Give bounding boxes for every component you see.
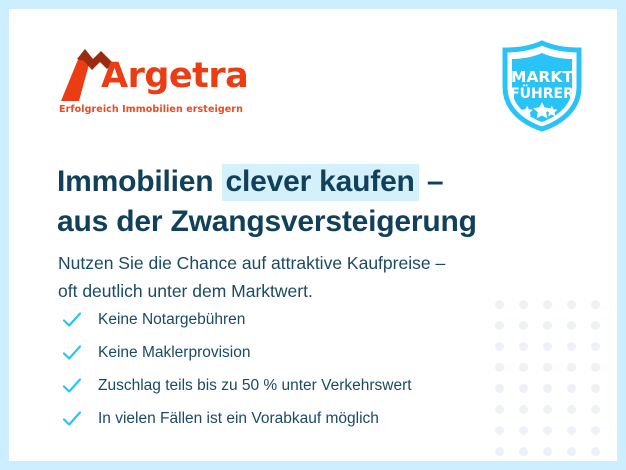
dot bbox=[543, 384, 552, 393]
dot bbox=[567, 321, 576, 330]
benefit-list: Keine Notargebühren Keine Maklerprovisio… bbox=[62, 306, 532, 438]
headline-line2: aus der Zwangsversteigerung bbox=[57, 203, 537, 241]
dot bbox=[567, 363, 576, 372]
list-item-label: In vielen Fällen ist ein Vorabkauf mögli… bbox=[98, 409, 379, 429]
list-item-label: Zuschlag teils bis zu 50 % unter Verkehr… bbox=[98, 376, 412, 396]
headline-suffix: – bbox=[419, 165, 444, 198]
dot bbox=[567, 405, 576, 414]
list-item: Zuschlag teils bis zu 50 % unter Verkehr… bbox=[62, 372, 532, 400]
dot bbox=[591, 300, 600, 309]
dot bbox=[543, 342, 552, 351]
list-item-label: Keine Notargebühren bbox=[98, 310, 245, 330]
dot bbox=[591, 405, 600, 414]
headline-prefix: Immobilien bbox=[57, 165, 222, 198]
subheadline-line1: Nutzen Sie die Chance auf attraktive Kau… bbox=[58, 253, 445, 273]
dot bbox=[591, 447, 600, 456]
dot bbox=[543, 405, 552, 414]
argetra-logo[interactable]: Argetra Erfolgreich Immobilien ersteiger… bbox=[57, 49, 257, 101]
dot bbox=[543, 321, 552, 330]
shield-badge-icon: MARKT FÜHRER bbox=[496, 40, 588, 132]
dot bbox=[567, 426, 576, 435]
subheadline: Nutzen Sie die Chance auf attraktive Kau… bbox=[58, 249, 558, 305]
check-icon bbox=[62, 343, 82, 363]
dot bbox=[543, 426, 552, 435]
dot bbox=[567, 384, 576, 393]
list-item: In vielen Fällen ist ein Vorabkauf mögli… bbox=[62, 405, 532, 433]
dot bbox=[591, 342, 600, 351]
dot bbox=[591, 384, 600, 393]
dot bbox=[591, 321, 600, 330]
dot bbox=[567, 300, 576, 309]
dot bbox=[519, 447, 528, 456]
check-icon bbox=[62, 310, 82, 330]
dot bbox=[543, 363, 552, 372]
list-item: Keine Notargebühren bbox=[62, 306, 532, 334]
dot bbox=[567, 342, 576, 351]
promo-banner: Argetra Erfolgreich Immobilien ersteiger… bbox=[0, 0, 626, 470]
dot bbox=[591, 426, 600, 435]
check-icon bbox=[62, 409, 82, 429]
headline-highlight: clever kaufen bbox=[222, 164, 419, 201]
logo-tagline: Erfolgreich Immobilien ersteigern bbox=[59, 104, 243, 115]
list-item-label: Keine Maklerprovision bbox=[98, 343, 251, 363]
logo-row: Argetra bbox=[57, 49, 257, 101]
dot bbox=[591, 363, 600, 372]
dot bbox=[543, 447, 552, 456]
badge-line1: MARKT bbox=[511, 68, 573, 86]
check-icon bbox=[62, 376, 82, 396]
logo-wordmark: Argetra bbox=[101, 54, 248, 98]
list-item: Keine Maklerprovision bbox=[62, 339, 532, 367]
subheadline-line2: oft deutlich unter dem Marktwert. bbox=[58, 281, 313, 301]
badge-line2: FÜHRER bbox=[510, 84, 574, 102]
dot bbox=[495, 447, 504, 456]
banner-canvas: Argetra Erfolgreich Immobilien ersteiger… bbox=[9, 9, 617, 461]
dot bbox=[567, 447, 576, 456]
headline: Immobilien clever kaufen – aus der Zwang… bbox=[57, 163, 537, 241]
